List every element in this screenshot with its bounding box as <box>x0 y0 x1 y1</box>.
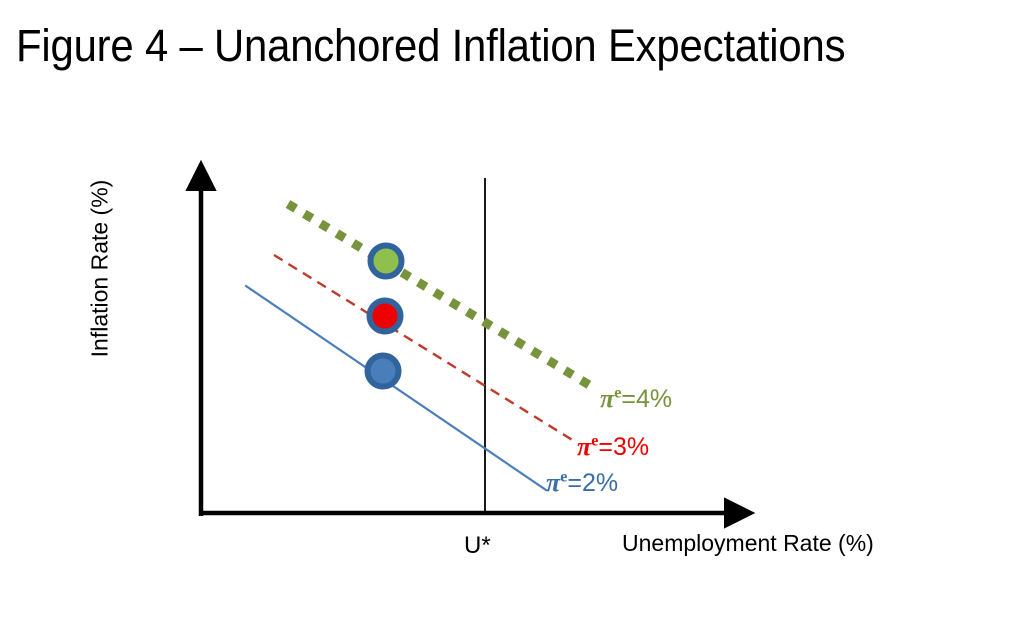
plot-area <box>0 0 1035 629</box>
pi-symbol-green: π <box>600 384 614 413</box>
pi-symbol-red: π <box>577 432 591 461</box>
x-axis-title: Unemployment Rate (%) <box>622 530 874 557</box>
equilibrium-marker-pi2 <box>368 356 399 387</box>
pi-value-blue: =2% <box>567 469 618 497</box>
y-axis-title: Inflation Rate (%) <box>87 154 114 384</box>
equilibrium-marker-pi3 <box>370 301 401 332</box>
curve-label-pi4: πe=4% <box>600 386 672 412</box>
pi-value-red: =3% <box>598 433 649 461</box>
curve-label-pi2: πe=2% <box>546 470 618 496</box>
curve-label-pi3: πe=3% <box>577 434 649 460</box>
equilibrium-marker-pi4 <box>371 246 402 277</box>
natural-rate-label: U* <box>464 532 491 560</box>
figure-container: Figure 4 – Unanchored Inflation Expectat… <box>0 0 1035 629</box>
pi-value-green: =4% <box>621 385 672 413</box>
pi-symbol-blue: π <box>546 468 560 497</box>
